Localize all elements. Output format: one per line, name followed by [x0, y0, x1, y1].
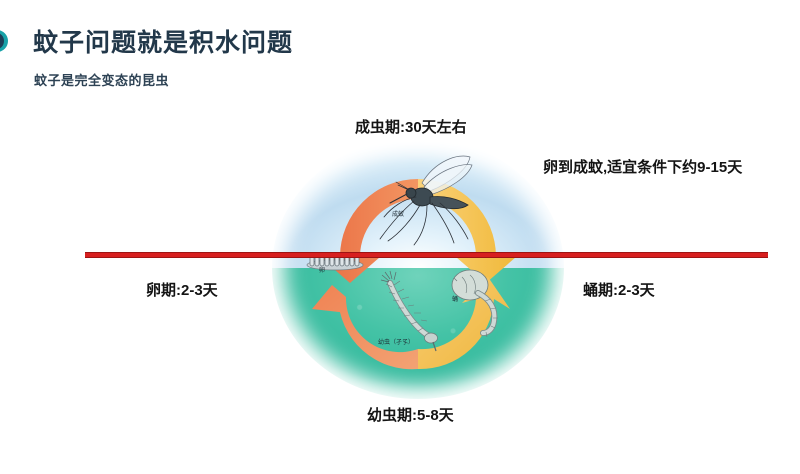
waterline-divider [85, 252, 768, 258]
label-egg-to-adult-note: 卵到成蚊,适宜条件下约9-15天 [543, 156, 742, 177]
caption-egg: 卵 [319, 265, 325, 274]
caption-pupa: 蛹 [452, 294, 458, 303]
label-adult-stage: 成虫期:30天左右 [355, 116, 467, 137]
page-title: 蚊子问题就是积水问题 [33, 23, 293, 59]
label-pupa-stage: 蛹期:2-3天 [583, 279, 655, 300]
life-cycle-artwork [272, 137, 564, 399]
adult-mosquito-illustration [380, 156, 472, 245]
accent-dot-decoration [0, 30, 8, 52]
page-subtitle: 蚊子是完全变态的昆虫 [34, 70, 169, 89]
caption-adult: 成蚊 [392, 209, 404, 218]
slide-canvas: 蚊子问题就是积水问题 蚊子是完全变态的昆虫 [0, 0, 800, 474]
mosquito-life-cycle-diagram: 成蚊 卵 蛹 幼虫（孑孓） [272, 137, 564, 399]
arrow-egg-to-larva [312, 285, 418, 369]
label-egg-stage: 卵期:2-3天 [146, 279, 218, 300]
caption-larva: 幼虫（孑孓） [378, 337, 414, 346]
label-larva-stage: 幼虫期:5-8天 [367, 404, 454, 425]
